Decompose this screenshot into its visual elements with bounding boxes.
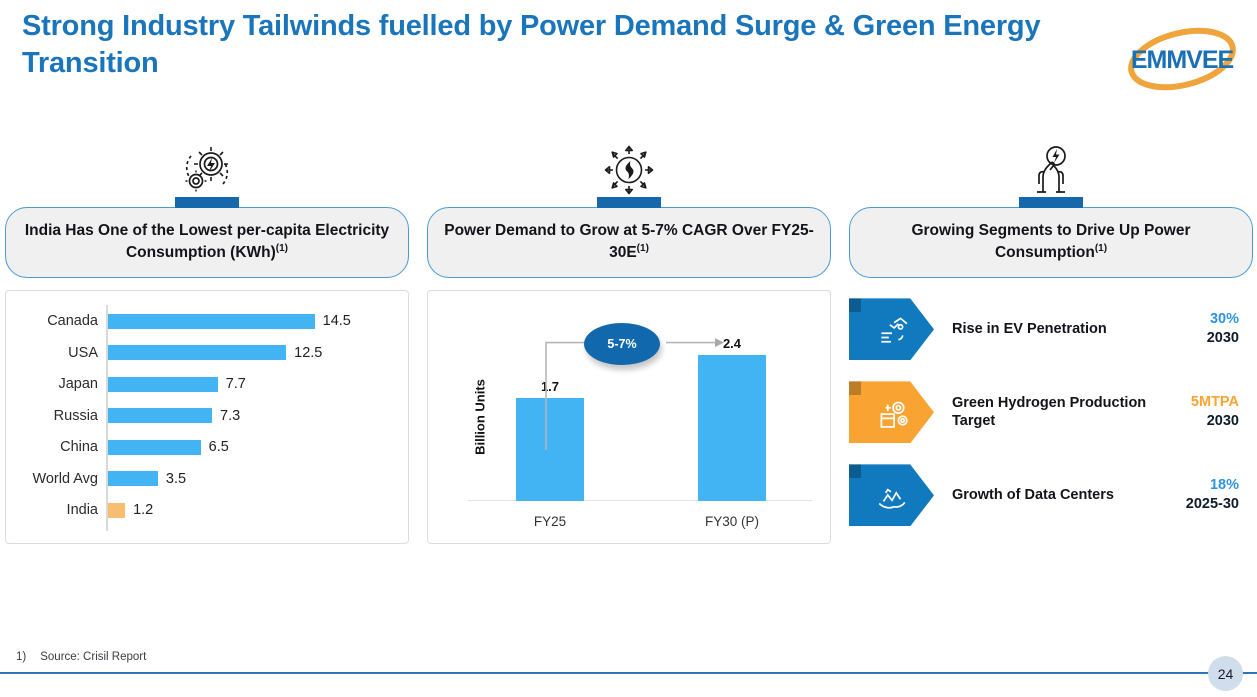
segment-label: Growth of Data Centers <box>934 486 1186 505</box>
bar-value-label: 1.2 <box>133 502 153 518</box>
power-demand-column-chart: Billion Units 5-7% 1.7FY252.4FY30 (P) <box>427 290 831 544</box>
bar-fill <box>108 345 286 360</box>
segment-label: Rise in EV Penetration <box>934 320 1207 339</box>
bar-row: Japan7.7 <box>6 368 398 400</box>
bar-category-label: China <box>6 439 108 455</box>
emmvee-logo: EMMVEE <box>1121 18 1243 100</box>
bar-row: USA12.5 <box>6 337 398 369</box>
page-number-badge: 24 <box>1208 656 1243 691</box>
footer-divider <box>0 672 1257 674</box>
bar-row: China6.5 <box>6 431 398 463</box>
panel-power-demand: Power Demand to Grow at 5-7% CAGR Over F… <box>427 140 831 544</box>
bar-category-label: Japan <box>6 376 108 392</box>
bar-track: 7.7 <box>108 368 398 400</box>
header-tab-connector <box>175 197 239 208</box>
panel-3-header: Growing Segments to Drive Up Power Consu… <box>849 207 1253 278</box>
power-sun-icon <box>427 140 831 196</box>
segment-period: 2030 <box>1191 412 1239 432</box>
hydrogen-gears-icon <box>875 395 909 429</box>
bar-fill <box>108 471 158 486</box>
bar-value-label: 14.5 <box>323 313 351 329</box>
segment-period: 2025-30 <box>1186 495 1239 515</box>
panel-1-header-text: India Has One of the Lowest per-capita E… <box>25 222 389 261</box>
segment-row[interactable]: Growth of Data Centers18%2025-30 <box>849 464 1253 526</box>
segment-stats: 18%2025-30 <box>1186 476 1253 515</box>
header-tab-connector <box>597 197 661 208</box>
panel-growing-segments: Growing Segments to Drive Up Power Consu… <box>849 140 1253 544</box>
segments-list: Rise in EV Penetration30%2030Green Hydro… <box>849 290 1253 544</box>
footnote: 1) Source: Crisil Report <box>16 651 146 663</box>
page-title: Strong Industry Tailwinds fuelled by Pow… <box>22 8 1112 82</box>
bar-track: 6.5 <box>108 431 398 463</box>
panel-2-footnote-ref: (1) <box>637 243 649 254</box>
panel-3-footnote-ref: (1) <box>1095 243 1107 254</box>
bar-row: India1.2 <box>6 494 398 526</box>
bar-track: 1.2 <box>108 494 398 526</box>
segment-metric: 30% <box>1207 310 1239 330</box>
segment-stats: 30%2030 <box>1207 310 1253 349</box>
bar-value-label: 3.5 <box>166 471 186 487</box>
panel-1-footnote-ref: (1) <box>276 243 288 254</box>
panel-3-header-text: Growing Segments to Drive Up Power Consu… <box>911 222 1190 261</box>
bar-value-label: 7.3 <box>220 408 240 424</box>
bar-category-label: World Avg <box>6 471 108 487</box>
segment-metric: 5MTPA <box>1191 393 1239 413</box>
data-center-hand-icon <box>875 478 909 512</box>
bar-category-label: USA <box>6 345 108 361</box>
bar-value-label: 6.5 <box>209 439 229 455</box>
bar-track: 12.5 <box>108 337 398 369</box>
panel-2-header-text: Power Demand to Grow at 5-7% CAGR Over F… <box>444 222 814 261</box>
segment-metric: 18% <box>1186 476 1239 496</box>
bar-fill <box>108 377 218 392</box>
bar-value-label: 7.7 <box>226 376 246 392</box>
bar-track: 7.3 <box>108 400 398 432</box>
segment-flag <box>849 298 934 360</box>
bar-row: World Avg3.5 <box>6 463 398 495</box>
segment-flag <box>849 381 934 443</box>
gear-bolt-icon <box>5 140 409 196</box>
segment-period: 2030 <box>1207 329 1239 349</box>
svg-text:EMMVEE: EMMVEE <box>1131 46 1234 74</box>
footnote-text: Source: Crisil Report <box>40 651 146 663</box>
bar-track: 14.5 <box>108 305 398 337</box>
bar-category-label: Canada <box>6 313 108 329</box>
segment-row[interactable]: Green Hydrogen Production Target5MTPA203… <box>849 381 1253 443</box>
bar-category-label: India <box>6 502 108 518</box>
segment-row[interactable]: Rise in EV Penetration30%2030 <box>849 298 1253 360</box>
panel-2-header: Power Demand to Grow at 5-7% CAGR Over F… <box>427 207 831 278</box>
bar-row: Canada14.5 <box>6 305 398 337</box>
bar-fill <box>108 314 315 329</box>
bar-fill <box>108 503 125 518</box>
bar-fill <box>108 440 201 455</box>
segment-label: Green Hydrogen Production Target <box>934 394 1191 432</box>
bar-category-label: Russia <box>6 408 108 424</box>
footnote-marker: 1) <box>16 651 26 663</box>
segment-flag <box>849 464 934 526</box>
panel-1-header: India Has One of the Lowest per-capita E… <box>5 207 409 278</box>
ev-car-chart-icon <box>875 312 909 346</box>
per-capita-bar-chart: Canada14.5USA12.5Japan7.7Russia7.3China6… <box>5 290 409 544</box>
header-tab-connector <box>1019 197 1083 208</box>
bar-track: 3.5 <box>108 463 398 495</box>
bar-rows: Canada14.5USA12.5Japan7.7Russia7.3China6… <box>6 305 398 526</box>
bar-row: Russia7.3 <box>6 400 398 432</box>
bar-value-label: 12.5 <box>294 345 322 361</box>
hands-bolt-icon <box>849 140 1253 196</box>
bar-fill <box>108 408 212 423</box>
segment-stats: 5MTPA2030 <box>1191 393 1253 432</box>
panel-per-capita-consumption: India Has One of the Lowest per-capita E… <box>5 140 409 544</box>
